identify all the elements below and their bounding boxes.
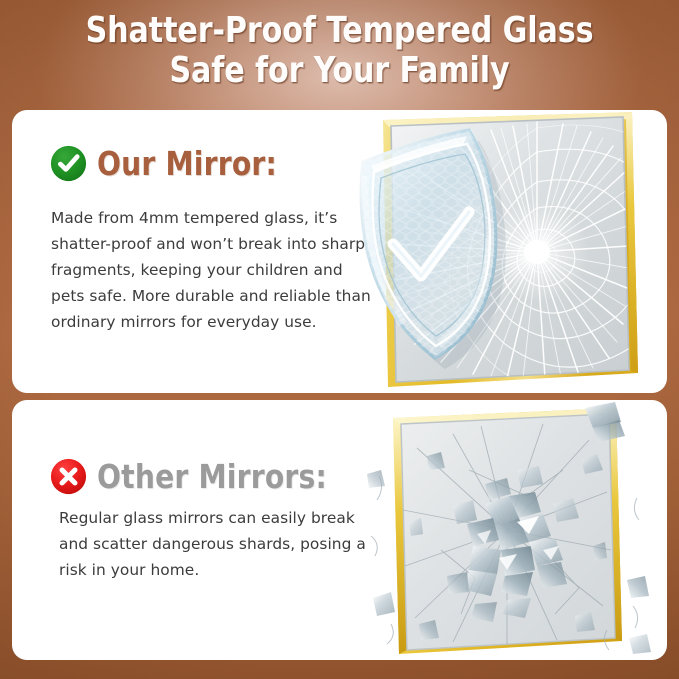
title-line-2: Safe for Your Family <box>24 51 655 91</box>
heading-our-mirror: Our Mirror: <box>97 147 277 180</box>
art-our-mirror-shielded-glass <box>341 112 661 393</box>
card-other-mirrors: Other Mirrors: Regular glass mirrors can… <box>12 400 667 660</box>
card-our-mirror: Our Mirror: Made from 4mm tempered glass… <box>12 110 667 393</box>
check-circle-icon <box>50 145 87 182</box>
page-title: Shatter-Proof Tempered Glass Safe for Yo… <box>0 11 679 91</box>
heading-row-other-mirrors: Other Mirrors: <box>50 458 339 495</box>
heading-other-mirrors: Other Mirrors: <box>97 460 327 493</box>
art-other-mirrors-shattered-glass <box>357 400 657 660</box>
body-text-other-mirrors: Regular glass mirrors can easily break a… <box>59 505 379 583</box>
illustration-shattered-mirror <box>357 400 657 660</box>
body-text-our-mirror: Made from 4mm tempered glass, it’s shatt… <box>51 205 381 335</box>
illustration-tempered-mirror <box>341 112 661 393</box>
title-line-1: Shatter-Proof Tempered Glass <box>24 11 655 51</box>
infographic-canvas: Shatter-Proof Tempered Glass Safe for Yo… <box>0 0 679 679</box>
heading-row-our-mirror: Our Mirror: <box>50 145 287 182</box>
x-circle-icon <box>50 458 87 495</box>
